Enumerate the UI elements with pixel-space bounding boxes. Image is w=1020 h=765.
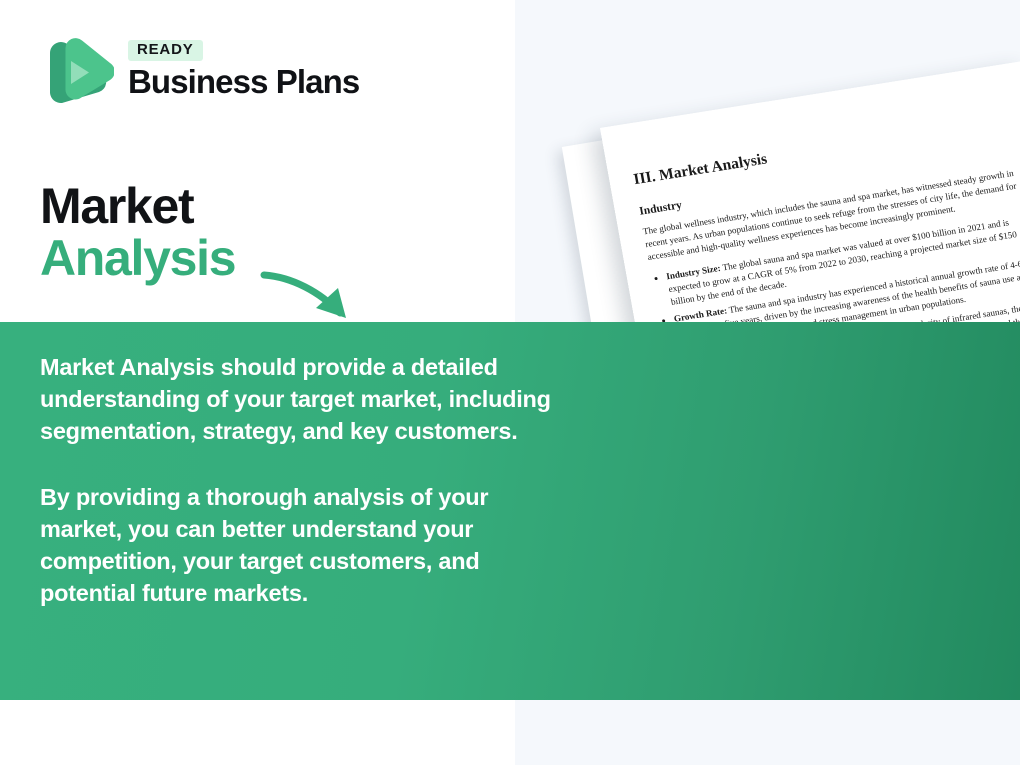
brand-wordmark: READY Business Plans [128, 40, 359, 100]
page-title-line-1: Market [40, 181, 235, 233]
slide-canvas: growth ient. 21 and size rate of s of un… [0, 0, 1020, 765]
panel-paragraph-1: Market Analysis should provide a detaile… [40, 352, 555, 448]
panel-copy-block: Market Analysis should provide a detaile… [40, 352, 555, 610]
play-triangle-logo-icon [40, 33, 114, 107]
page-title: Market Analysis [40, 181, 235, 284]
page-title-line-2: Analysis [40, 233, 235, 285]
curved-arrow-down-right-icon [258, 266, 368, 332]
panel-paragraph-2: By providing a thorough analysis of your… [40, 482, 555, 610]
ready-badge: READY [128, 40, 203, 62]
brand-logo[interactable]: READY Business Plans [40, 33, 359, 107]
brand-name: Business Plans [128, 65, 359, 100]
